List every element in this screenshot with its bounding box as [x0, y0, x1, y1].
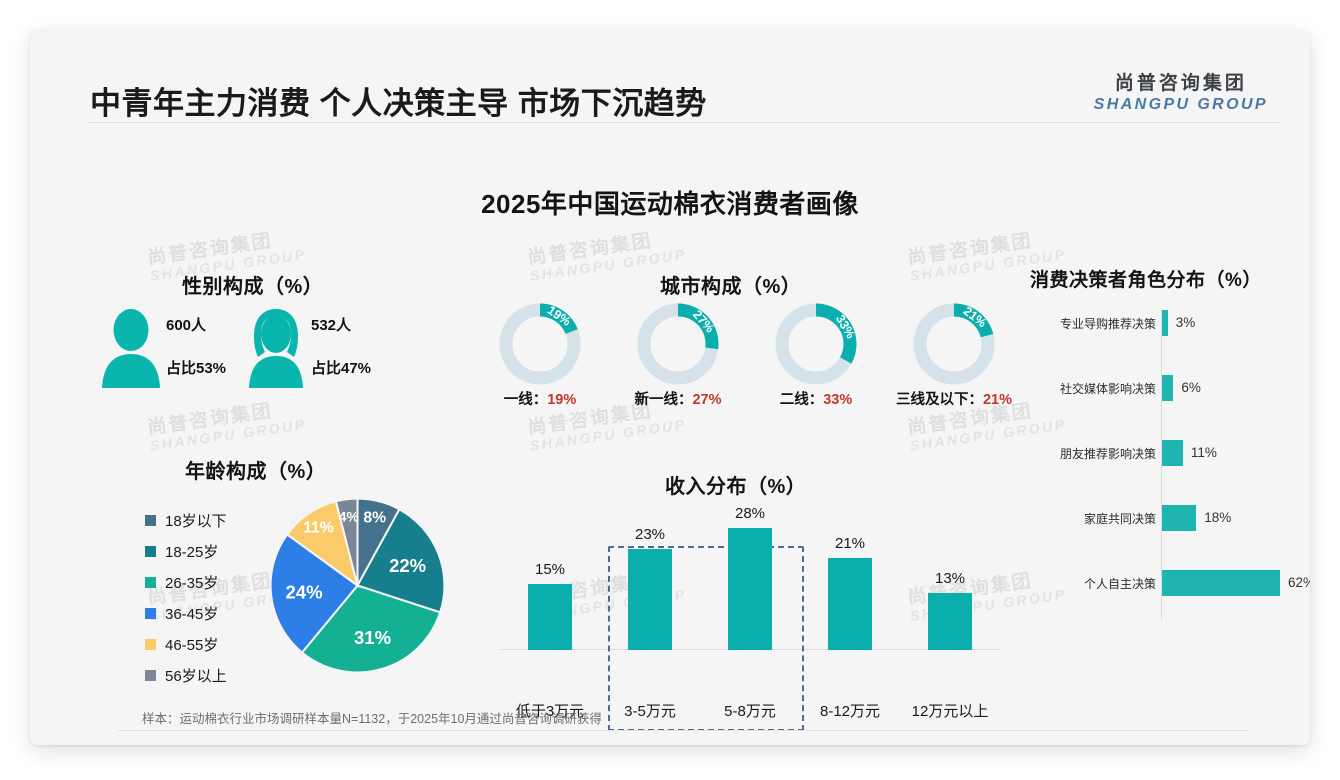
role-bar-row: 个人自主决策62%: [1030, 570, 1300, 596]
watermark-cn: 尚普咨询集团: [146, 227, 305, 269]
legend-item: 46-55岁: [145, 629, 227, 660]
age-section: 年龄构成（%） 18岁以下 18-25岁 26-35岁 36-45岁: [90, 445, 460, 695]
city-section: 城市构成（%） 19%一线：19%27%新一线：27%33%二线：33%21%三…: [470, 270, 1030, 415]
donut-caption-label: 新一线：: [634, 392, 692, 408]
role-bar-value: 18%: [1204, 510, 1231, 525]
age-pie-svg: 8%22%31%24%11%4%: [265, 493, 450, 678]
role-bar-row: 社交媒体影响决策6%: [1030, 375, 1300, 401]
legend-label: 26-35岁: [165, 572, 218, 593]
female-avatar-icon: [245, 308, 307, 388]
watermark-cn: 尚普咨询集团: [526, 227, 685, 269]
role-bar-value: 3%: [1176, 315, 1196, 330]
header: 中青年主力消费 个人决策主导 市场下沉趋势 尚普咨询集团 SHANGPU GRO…: [30, 30, 1310, 122]
role-bar-label: 朋友推荐影响决策: [1030, 445, 1156, 462]
role-bar-row: 家庭共同决策18%: [1030, 505, 1300, 531]
role-bar-row: 专业导购推荐决策3%: [1030, 310, 1300, 336]
legend-label: 46-55岁: [165, 634, 218, 655]
sample-note: 样本：运动棉衣行业市场调研样本量N=1132，于2025年10月通过尚普咨询调研…: [142, 708, 602, 727]
watermark-en: SHANGPU GROUP: [529, 417, 687, 453]
income-bar: [728, 528, 772, 651]
roles-section: 消费决策者角色分布（%） 专业导购推荐决策3%社交媒体影响决策6%朋友推荐影响决…: [1030, 265, 1300, 635]
footer-divider: [118, 730, 1248, 731]
donut-caption-label: 一线：: [504, 392, 548, 408]
legend-label: 56岁以上: [165, 665, 227, 686]
city-donut-item: 21%三线及以下：21%: [884, 302, 1024, 414]
income-bar-chart: 15%低于3万元23%3-5万元28%5-8万元21%8-12万元13%12万元…: [500, 510, 1000, 650]
legend-label: 36-45岁: [165, 603, 218, 624]
donut-svg: 27%: [636, 302, 720, 386]
city-donut-item: 19%一线：19%: [470, 302, 610, 414]
income-bar-group: 28%5-8万元: [700, 510, 800, 650]
donut-caption-label: 三线及以下：: [896, 392, 983, 408]
legend-item: 26-35岁: [145, 567, 227, 598]
roles-title: 消费决策者角色分布（%）: [1030, 265, 1262, 292]
city-title: 城市构成（%）: [660, 270, 801, 299]
pie-slice-label: 24%: [286, 582, 323, 603]
page-title: 中青年主力消费 个人决策主导 市场下沉趋势: [90, 78, 707, 123]
income-bar-value: 15%: [500, 561, 600, 578]
legend-swatch: [145, 515, 156, 526]
legend-swatch: [145, 670, 156, 681]
income-bar: [528, 584, 572, 650]
income-title: 收入分布（%）: [665, 470, 806, 499]
income-bar-value: 28%: [700, 505, 800, 522]
income-bar: [628, 549, 672, 650]
donut-svg: 19%: [498, 302, 582, 386]
donut-caption-value: 19%: [547, 392, 576, 408]
gender-female-count: 532人: [311, 314, 371, 335]
gender-male-count: 600人: [166, 314, 226, 335]
donut-svg: 21%: [912, 302, 996, 386]
gender-title: 性别构成（%）: [182, 270, 323, 299]
gender-items: 600人 占比53% 532人 占比47%: [90, 308, 430, 398]
chart-subtitle: 2025年中国运动棉衣消费者画像: [30, 184, 1310, 221]
income-bar: [828, 558, 872, 650]
income-bar-label: 12万元以上: [900, 700, 1000, 721]
brand-logo: 尚普咨询集团 SHANGPU GROUP: [1094, 68, 1268, 114]
roles-bar-chart: 专业导购推荐决策3%社交媒体影响决策6%朋友推荐影响决策11%家庭共同决策18%…: [1030, 310, 1300, 620]
watermark-cn: 尚普咨询集团: [906, 227, 1065, 269]
pie-slice-label: 31%: [354, 627, 391, 648]
role-bar: [1162, 375, 1173, 401]
donut-caption: 二线：33%: [746, 388, 886, 409]
income-bar-label: 3-5万元: [600, 700, 700, 721]
age-pie-chart: 8%22%31%24%11%4%: [265, 493, 450, 678]
city-donuts: 19%一线：19%27%新一线：27%33%二线：33%21%三线及以下：21%: [470, 302, 1030, 414]
income-bar-value: 13%: [900, 570, 1000, 587]
gender-male-share: 占比53%: [166, 357, 226, 378]
role-bar: [1162, 505, 1196, 531]
legend-item: 56岁以上: [145, 660, 227, 691]
gender-section: 性别构成（%） 600人 占比53%: [90, 270, 430, 410]
role-bar-value: 6%: [1181, 380, 1201, 395]
header-divider: [88, 122, 1280, 123]
legend-label: 18-25岁: [165, 541, 218, 562]
donut-caption: 一线：19%: [470, 388, 610, 409]
pie-slice-label: 11%: [303, 519, 334, 536]
income-bar-value: 21%: [800, 535, 900, 552]
income-section: 收入分布（%） 15%低于3万元23%3-5万元28%5-8万元21%8-12万…: [490, 465, 1010, 695]
gender-male-text: 600人 占比53%: [166, 314, 226, 378]
income-bar-group: 13%12万元以上: [900, 510, 1000, 650]
role-bar-label: 社交媒体影响决策: [1030, 380, 1156, 397]
city-donut-item: 27%新一线：27%: [608, 302, 748, 414]
pie-slice-label: 8%: [363, 510, 386, 527]
income-bar-group: 23%3-5万元: [600, 510, 700, 650]
donut-caption-value: 27%: [692, 392, 721, 408]
gender-female-text: 532人 占比47%: [311, 314, 371, 378]
income-bar-value: 23%: [600, 526, 700, 543]
income-bar-group: 15%低于3万元: [500, 510, 600, 650]
legend-swatch: [145, 639, 156, 650]
legend-label: 18岁以下: [165, 510, 227, 531]
legend-swatch: [145, 546, 156, 557]
role-bar-value: 62%: [1288, 575, 1310, 590]
gender-item-female: 532人 占比47%: [245, 308, 405, 398]
income-bar: [928, 593, 972, 650]
donut-caption: 新一线：27%: [608, 388, 748, 409]
role-bar: [1162, 440, 1183, 466]
city-donut-item: 33%二线：33%: [746, 302, 886, 414]
gender-item-male: 600人 占比53%: [100, 308, 260, 398]
donut-caption-value: 21%: [983, 392, 1012, 408]
age-legend: 18岁以下 18-25岁 26-35岁 36-45岁 46-55岁: [145, 505, 227, 691]
role-bar-row: 朋友推荐影响决策11%: [1030, 440, 1300, 466]
donut-svg: 33%: [774, 302, 858, 386]
income-bar-label: 5-8万元: [700, 700, 800, 721]
legend-swatch: [145, 608, 156, 619]
age-title: 年龄构成（%）: [185, 455, 326, 484]
role-bar-label: 家庭共同决策: [1030, 510, 1156, 527]
donut-caption: 三线及以下：21%: [884, 388, 1024, 409]
pie-slice-label: 4%: [339, 508, 359, 524]
income-bar-label: 8-12万元: [800, 700, 900, 721]
role-bar-value: 11%: [1191, 445, 1217, 460]
legend-item: 18-25岁: [145, 536, 227, 567]
role-bar: [1162, 570, 1280, 596]
infographic-page: 尚普咨询集团 SHANGPU GROUP 尚普咨询集团 SHANGPU GROU…: [0, 0, 1340, 780]
logo-text-cn: 尚普咨询集团: [1094, 68, 1268, 95]
donut-caption-label: 二线：: [780, 392, 824, 408]
role-bar-label: 个人自主决策: [1030, 575, 1156, 592]
donut-caption-value: 33%: [823, 392, 852, 408]
gender-female-share: 占比47%: [311, 357, 371, 378]
logo-text-en: SHANGPU GROUP: [1094, 96, 1268, 114]
legend-item: 18岁以下: [145, 505, 227, 536]
income-bar-group: 21%8-12万元: [800, 510, 900, 650]
pie-slice-label: 22%: [389, 555, 426, 576]
male-avatar-icon: [100, 308, 162, 388]
legend-item: 36-45岁: [145, 598, 227, 629]
infographic-card: 尚普咨询集团 SHANGPU GROUP 尚普咨询集团 SHANGPU GROU…: [30, 30, 1310, 745]
role-bar: [1162, 310, 1168, 336]
legend-swatch: [145, 577, 156, 588]
role-bar-label: 专业导购推荐决策: [1030, 315, 1156, 332]
